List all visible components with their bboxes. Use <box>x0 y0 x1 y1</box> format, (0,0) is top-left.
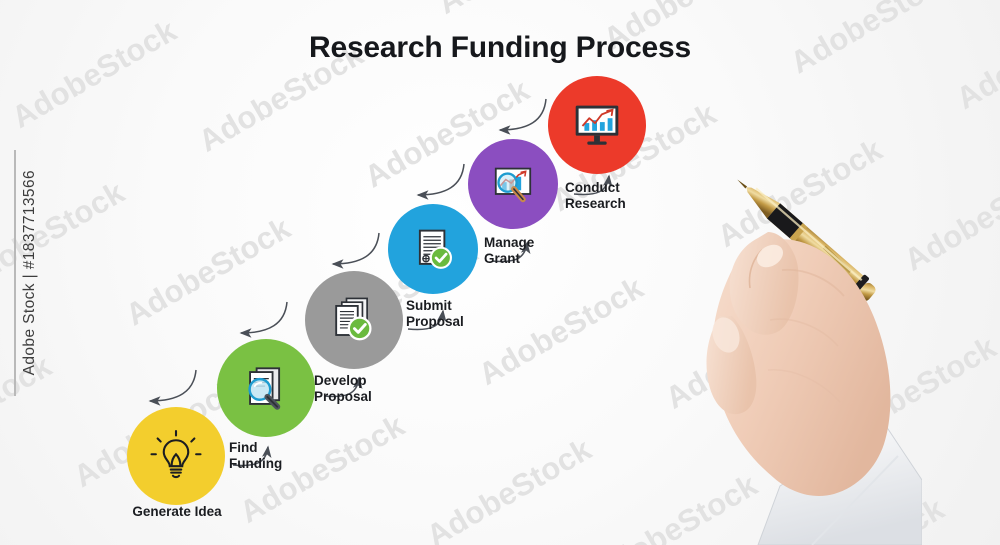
step-circle-develop-proposal[interactable] <box>305 271 403 369</box>
chart-magnifier-icon <box>484 155 542 213</box>
lightbulb-icon <box>148 428 204 484</box>
step-circle-generate-idea[interactable] <box>127 407 225 505</box>
arrow-into-find-funding <box>241 302 287 333</box>
step-label-submit-proposal: Submit Proposal <box>406 298 464 330</box>
document-check-icon <box>405 221 461 277</box>
step-label-conduct-research: Conduct Research <box>565 180 626 212</box>
step-circle-manage-grant[interactable] <box>468 139 558 229</box>
documents-check-icon <box>324 290 384 350</box>
step-label-generate-idea: Generate Idea <box>102 504 252 520</box>
arrow-into-generate-idea <box>150 370 196 401</box>
step-label-manage-grant: Manage Grant <box>484 235 534 267</box>
step-circle-submit-proposal[interactable] <box>388 204 478 294</box>
hand-holding-pen <box>662 120 922 545</box>
document-magnifier-icon <box>236 358 296 418</box>
poster-canvas: AdobeStockAdobeStockAdobeStockAdobeStock… <box>0 0 1000 545</box>
step-label-develop-proposal: Develop Proposal <box>314 373 372 405</box>
arrow-into-develop-proposal <box>333 233 379 264</box>
arrow-into-submit-proposal <box>418 164 464 195</box>
monitor-chart-icon <box>566 94 628 156</box>
step-circle-conduct-research[interactable] <box>548 76 646 174</box>
step-label-find-funding: Find Funding <box>229 440 282 472</box>
step-circle-find-funding[interactable] <box>217 339 315 437</box>
arrow-into-manage-grant <box>500 99 546 130</box>
